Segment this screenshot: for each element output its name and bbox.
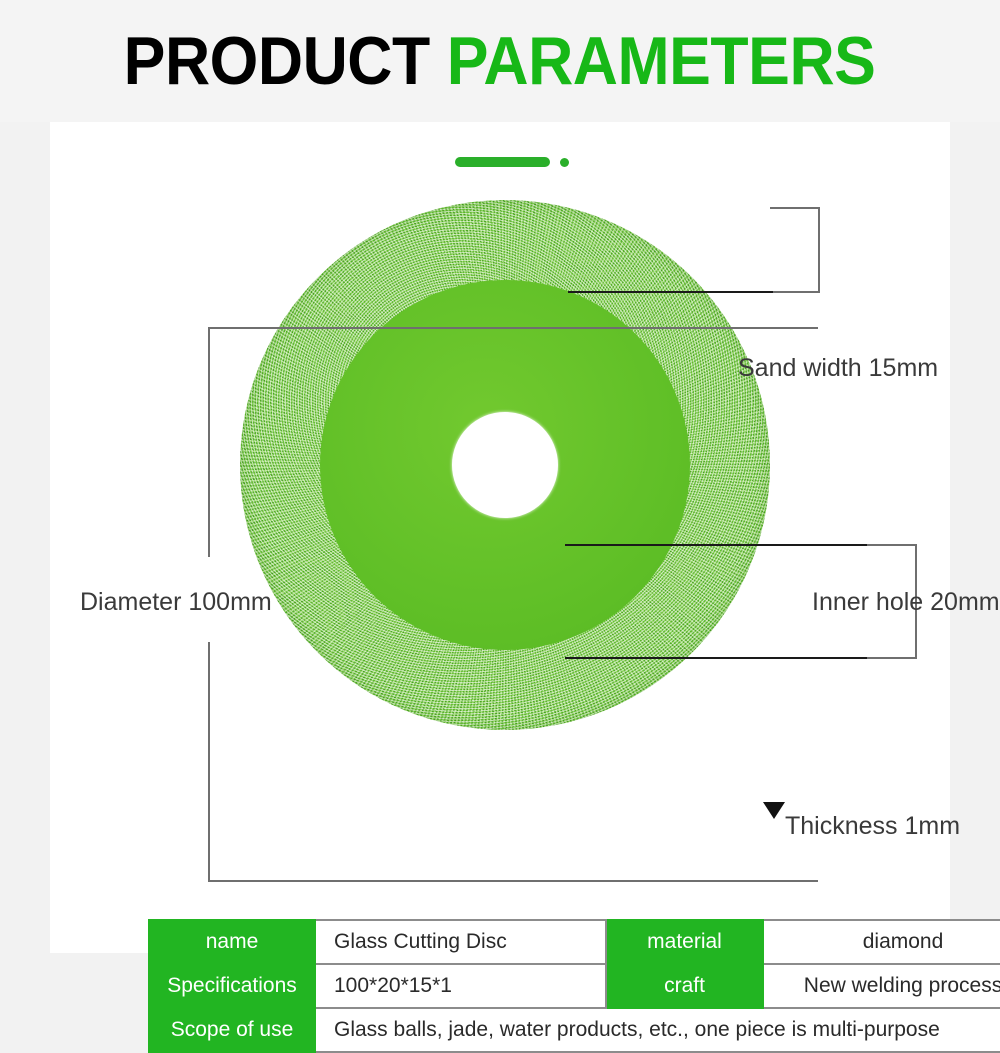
annotation-sand-width: Sand width 15mm [738, 354, 938, 383]
cell-label-specifications: Specifications [149, 964, 315, 1008]
table-row: name Glass Cutting Disc material diamond [149, 920, 1000, 964]
cell-label-material: material [606, 920, 763, 964]
bracket-cap-bottom [770, 291, 820, 293]
glass-cutting-disc-image [240, 200, 770, 730]
leader-line [568, 291, 773, 293]
cell-label-craft: craft [606, 964, 763, 1008]
table-row: Scope of use Glass balls, jade, water pr… [149, 1008, 1000, 1052]
bracket-cap-bottom [865, 657, 917, 659]
bracket-cap-top [770, 207, 820, 209]
disc-center-hole [452, 412, 558, 518]
bracket-line-lower [208, 642, 210, 882]
thickness-arrow-icon [763, 802, 785, 819]
bracket-cap-bottom [208, 880, 818, 882]
content-card: Diameter 100mm Sand width 15mm Inner hol… [50, 122, 950, 953]
annotation-diameter: Diameter 100mm [80, 588, 272, 617]
bracket-cap-top [208, 327, 818, 329]
cell-value-craft: New welding process [763, 964, 1000, 1008]
title-word-product: PRODUCT [124, 23, 430, 99]
leader-line-bottom [565, 657, 867, 659]
green-dot-icon [560, 158, 569, 167]
bracket-line [818, 207, 820, 293]
annotation-thickness: Thickness 1mm [785, 812, 960, 841]
table-row: Specifications 100*20*15*1 craft New wel… [149, 964, 1000, 1008]
annotation-inner-hole: Inner hole 20mm [812, 588, 1000, 617]
page-header: PRODUCT PARAMETERS [0, 0, 1000, 122]
cell-label-scope-of-use: Scope of use [149, 1008, 315, 1052]
green-bar-icon [455, 157, 550, 167]
bracket-cap-top [865, 544, 917, 546]
leader-line-top [565, 544, 867, 546]
specification-table: name Glass Cutting Disc material diamond… [148, 919, 1000, 1053]
decor-marker [455, 154, 595, 170]
cell-label-name: name [149, 920, 315, 964]
page-title: PRODUCT PARAMETERS [124, 27, 876, 95]
cell-value-name: Glass Cutting Disc [315, 920, 606, 964]
title-word-parameters: PARAMETERS [447, 23, 876, 99]
bracket-line-upper [208, 327, 210, 557]
cell-value-material: diamond [763, 920, 1000, 964]
cell-value-scope-of-use: Glass balls, jade, water products, etc.,… [315, 1008, 1000, 1052]
cell-value-specifications: 100*20*15*1 [315, 964, 606, 1008]
